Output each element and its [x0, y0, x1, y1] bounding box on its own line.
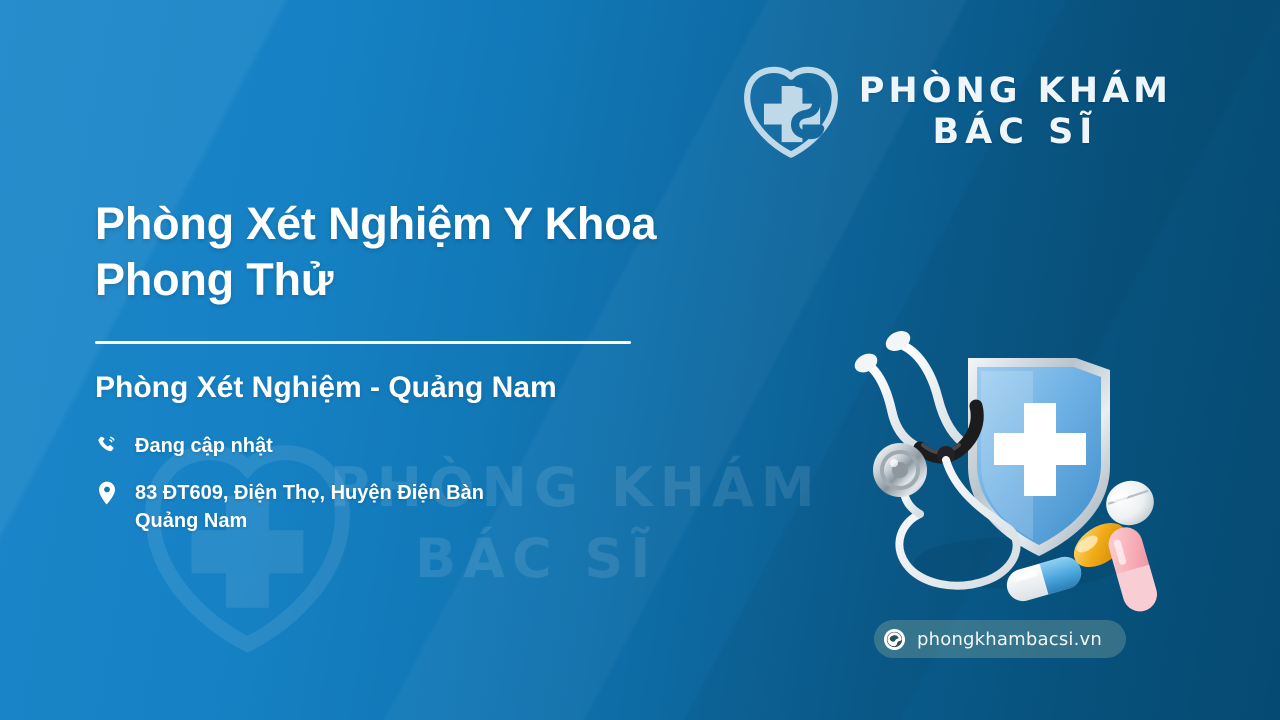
contact-list: Đang cập nhật 83 ĐT609, Điện Thọ, Huyện …	[95, 432, 795, 536]
stethoscope-ear-tips	[851, 327, 913, 376]
title-divider	[95, 341, 631, 344]
address-line-2: Quảng Nam	[135, 510, 247, 532]
phone-row[interactable]: Đang cập nhật	[95, 432, 795, 460]
phone-ringing-icon	[95, 432, 119, 459]
phone-value: Đang cập nhật	[135, 432, 273, 460]
address-line-1: 83 ĐT609, Điện Thọ, Huyện Điện Bàn	[135, 482, 484, 504]
shield-with-cross	[968, 358, 1110, 556]
address-row[interactable]: 83 ĐT609, Điện Thọ, Huyện Điện Bàn Quảng…	[95, 479, 795, 536]
stethoscope-chest-piece	[873, 443, 927, 497]
address-value: 83 ĐT609, Điện Thọ, Huyện Điện Bàn Quảng…	[135, 479, 484, 536]
brand-logo: PHÒNG KHÁM BÁC SĨ	[739, 60, 1172, 164]
clinic-info-block: Phòng Xét Nghiệm Y Khoa Phong Thử Phòng …	[95, 196, 795, 536]
brand-line-2: BÁC SĨ	[859, 112, 1172, 153]
brand-wordmark: PHÒNG KHÁM BÁC SĨ	[859, 71, 1172, 154]
website-badge[interactable]: phongkhambacsi.vn	[874, 620, 1126, 658]
stethoscope-shield-pills-illustration	[828, 318, 1164, 624]
brand-line-1: PHÒNG KHÁM	[859, 71, 1172, 112]
page-title: Phòng Xét Nghiệm Y Khoa Phong Thử	[95, 196, 795, 308]
medical-cross-heart-logo-icon	[739, 60, 843, 164]
website-url: phongkhambacsi.vn	[917, 629, 1102, 650]
location-pin-icon	[95, 479, 119, 506]
clinic-banner: PHÒNG KHÁM BÁC SĨ PHÒNG KHÁM BÁC SĨ Phòn…	[0, 0, 1280, 720]
clinic-subtitle: Phòng Xét Nghiệm - Quảng Nam	[95, 370, 795, 406]
globe-icon	[883, 628, 906, 651]
white-round-tablet	[1100, 475, 1159, 532]
